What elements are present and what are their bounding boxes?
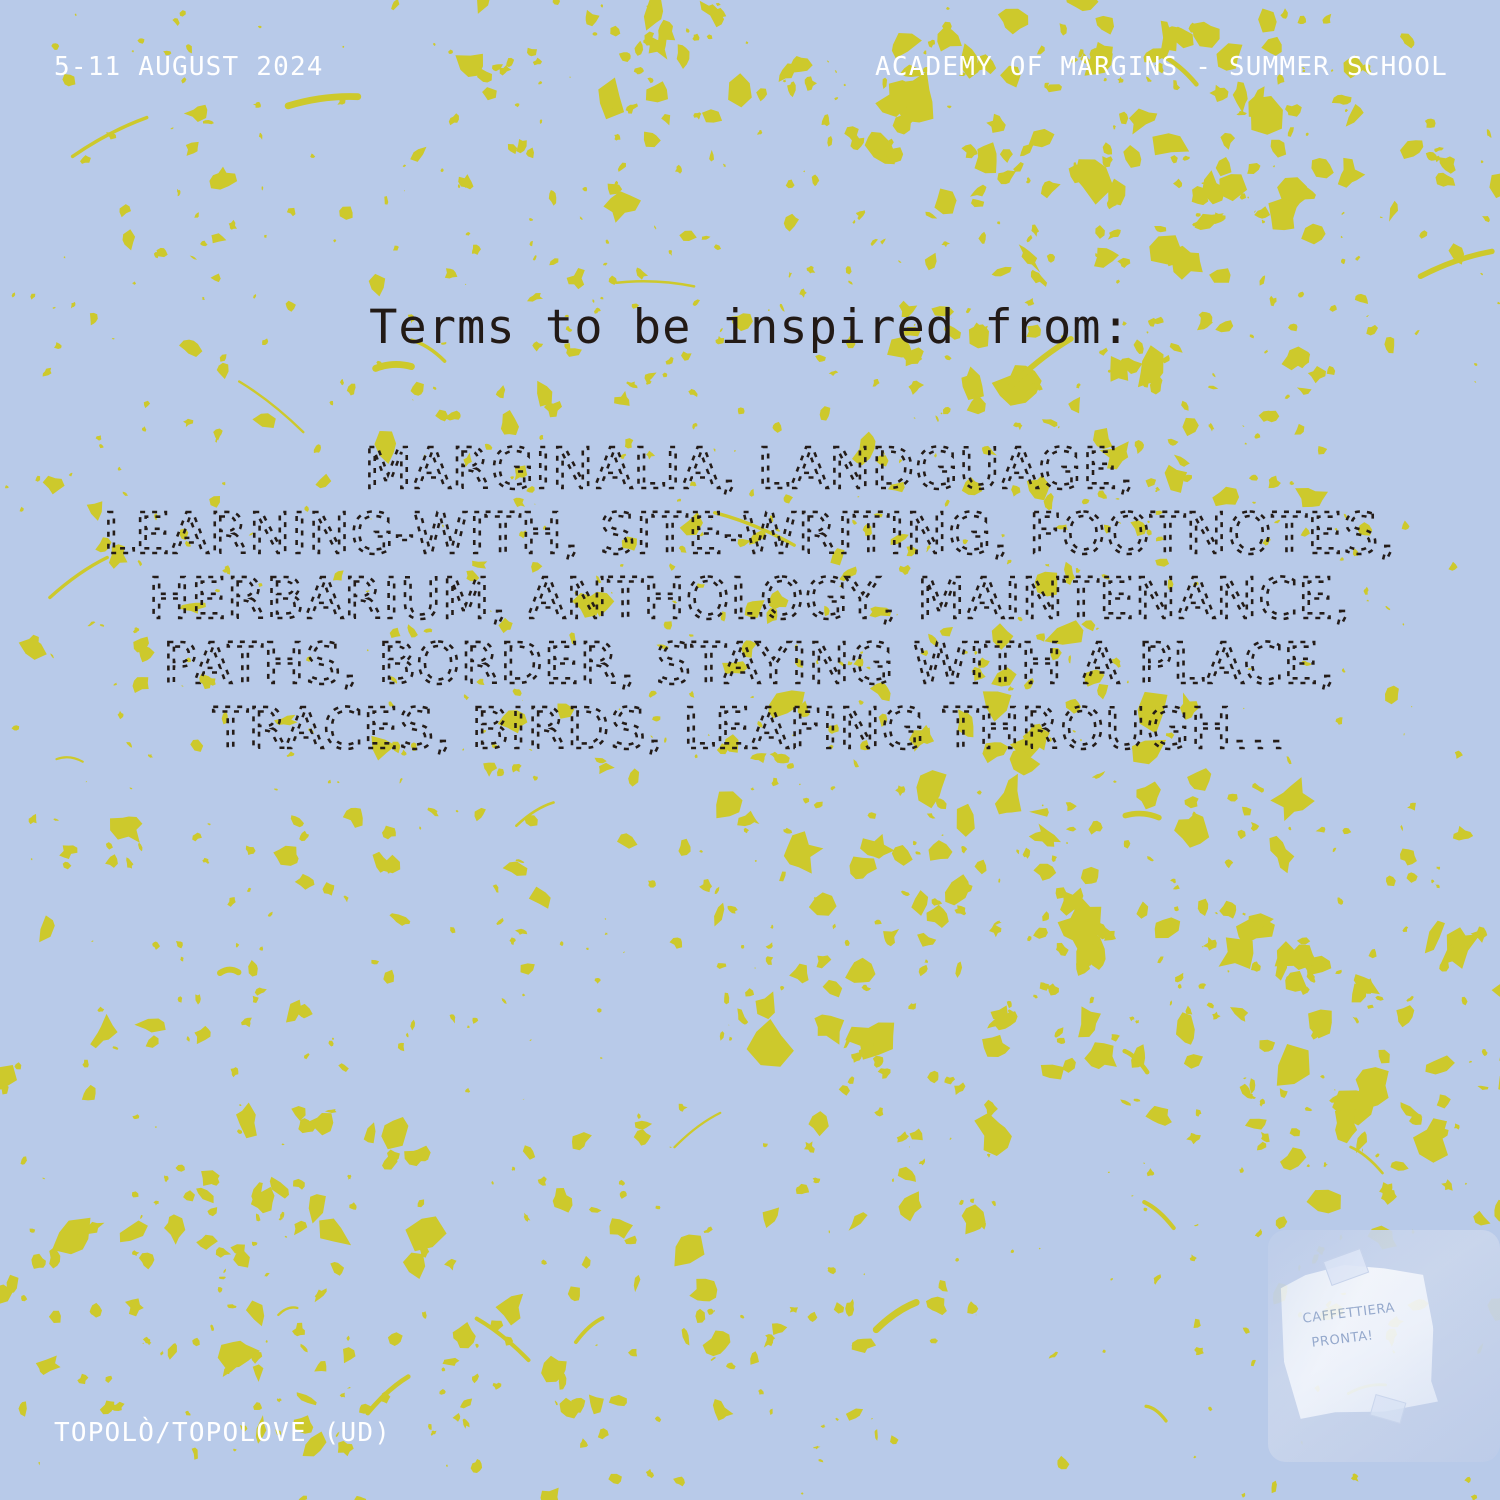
note-overlay-tint (1268, 1230, 1500, 1462)
poster-canvas: 5-11 AUGUST 2024 ACADEMY OF MARGINS - SU… (0, 0, 1500, 1500)
term-line-2: LEARNING-WITH, SITE-WRITING, FOOTNOTES, (103, 502, 1397, 567)
term-line-3: HERBARIUM, ANTHOLOGY, MAINTENANCE, (148, 567, 1352, 632)
organisation-title: ACADEMY OF MARGINS - SUMMER SCHOOL (875, 52, 1448, 82)
event-date: 5-11 AUGUST 2024 (54, 52, 324, 82)
terms-svg: MARGINALIA, LANDGUAGE, LEARNING-WITH, SI… (0, 436, 1500, 786)
term-line-4: PATHS, BORDER, STAYING WITH A PLACE, (163, 632, 1337, 697)
term-line-1: MARGINALIA, LANDGUAGE, (364, 437, 1136, 502)
terms-list: MARGINALIA, LANDGUAGE, LEARNING-WITH, SI… (0, 436, 1500, 786)
term-line-5: TRACES, BIRDS, LEAFING THROUGH... (212, 697, 1286, 762)
note-photo: CAFFETTIERA PRONTA! (1268, 1230, 1500, 1462)
location-label: TOPOLÒ/TOPOLOVE (UD) (54, 1418, 391, 1448)
page-title: Terms to be inspired from: (0, 300, 1500, 355)
